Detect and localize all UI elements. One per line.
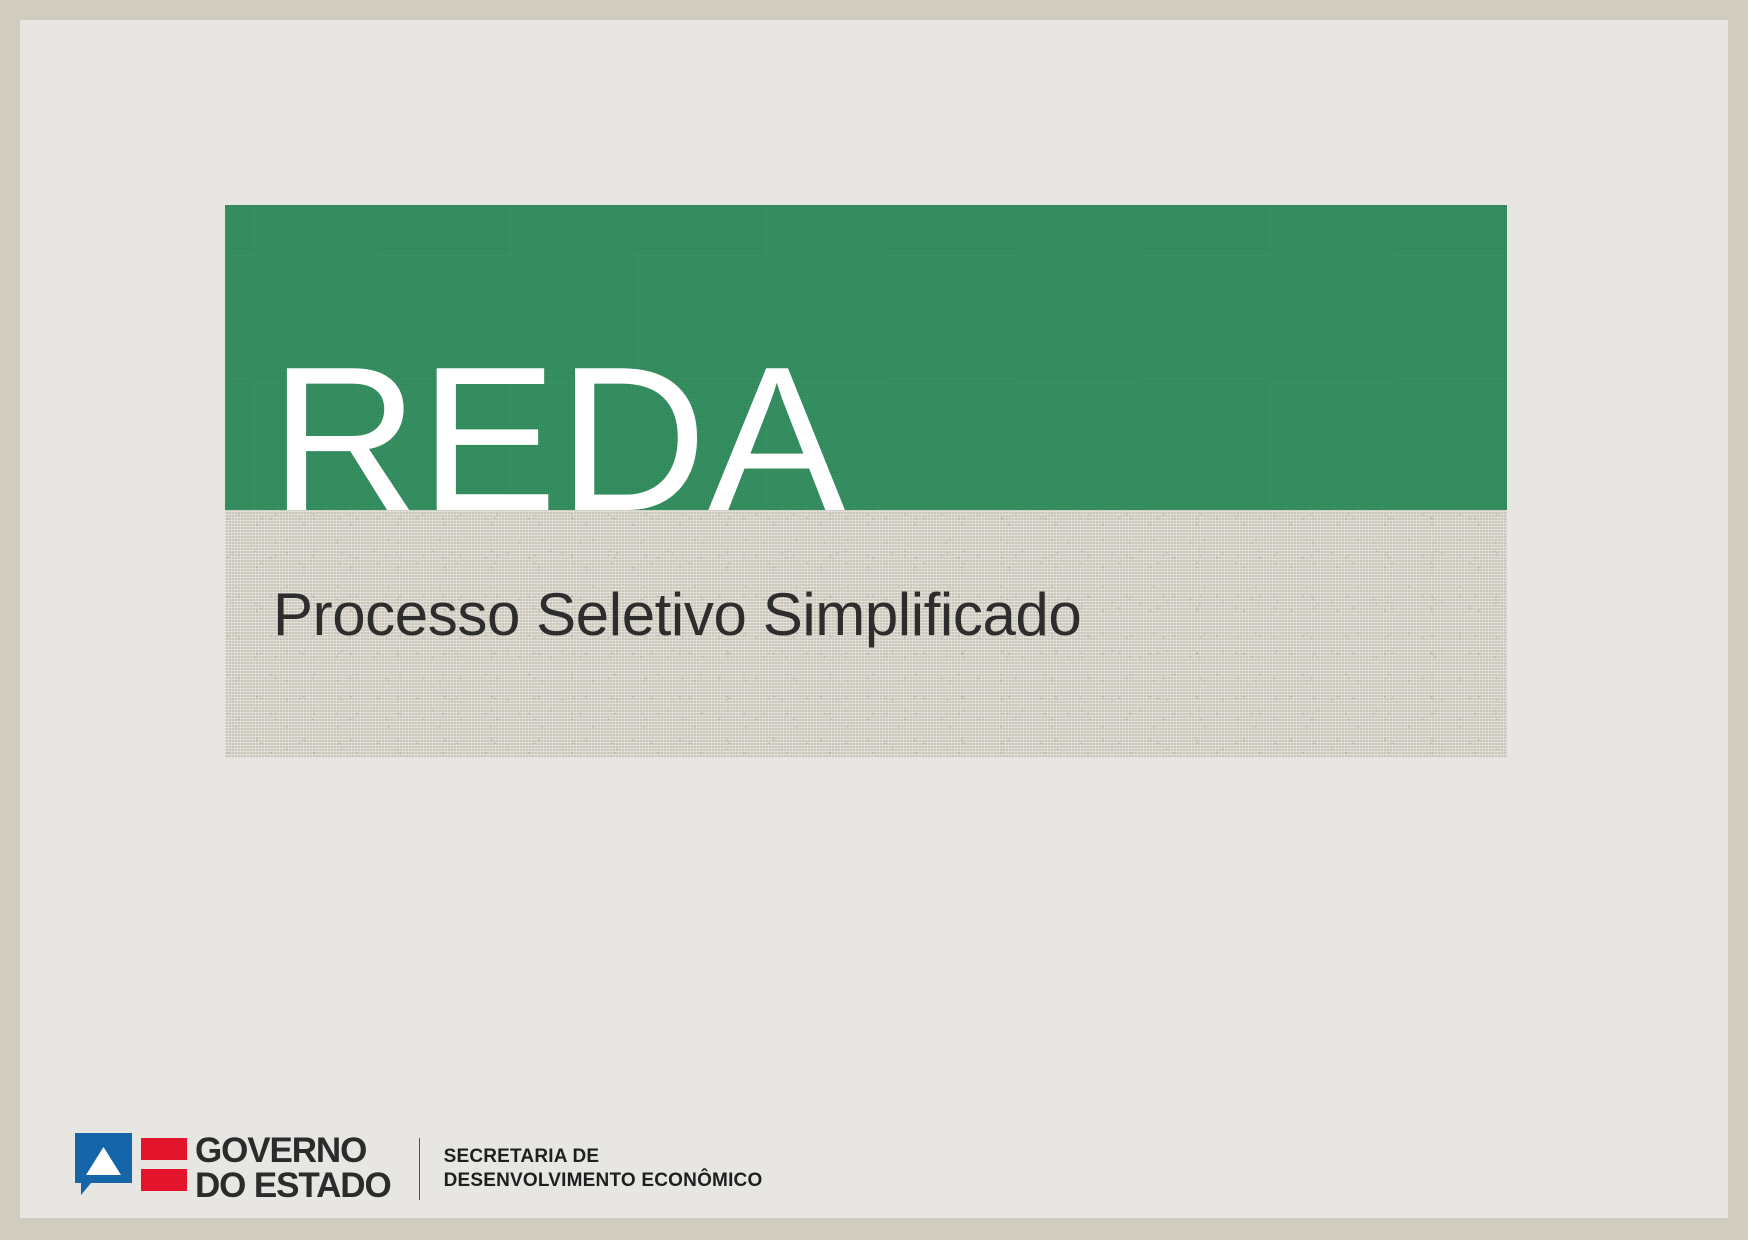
government-wordmark: GOVERNO DO ESTADO — [195, 1134, 391, 1203]
secretaria-line-1: SECRETARIA DE — [444, 1145, 763, 1169]
red-bar-top — [141, 1138, 187, 1160]
page-subtitle: Processo Seletivo Simplificado — [273, 583, 1081, 646]
hero-text-group: REDA Processo Seletivo Simplificado — [270, 205, 1470, 758]
wordmark-line-2: DO ESTADO — [195, 1169, 391, 1204]
page-title: REDA — [270, 345, 846, 535]
secretaria-label: SECRETARIA DE DESENVOLVIMENTO ECONÔMICO — [444, 1145, 763, 1194]
slide-page: REDA Processo Seletivo Simplificado GOVE… — [20, 20, 1728, 1218]
government-logo — [75, 1133, 185, 1205]
brand-divider — [419, 1138, 420, 1200]
secretaria-line-2: DESENVOLVIMENTO ECONÔMICO — [444, 1169, 763, 1193]
hero-banner-card: REDA Processo Seletivo Simplificado — [225, 205, 1507, 758]
brand-lockup: GOVERNO DO ESTADO SECRETARIA DE DESENVOL… — [75, 1130, 762, 1208]
bahia-flag-icon — [75, 1133, 132, 1195]
red-bar-bottom — [141, 1169, 187, 1191]
slide-outer-frame: REDA Processo Seletivo Simplificado GOVE… — [0, 0, 1748, 1240]
flag-red-bars-icon — [141, 1136, 187, 1192]
wordmark-line-1: GOVERNO — [195, 1134, 391, 1169]
